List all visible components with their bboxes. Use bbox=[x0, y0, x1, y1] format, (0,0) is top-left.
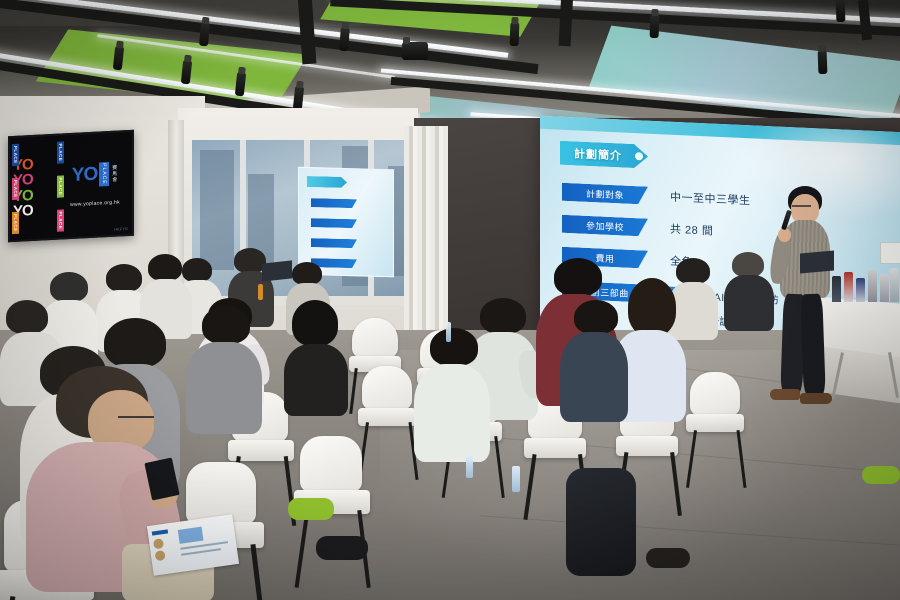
track-spotlight-icon bbox=[199, 22, 210, 47]
slide-row-label: 參加學校 bbox=[562, 215, 648, 237]
track-spotlight-icon bbox=[818, 50, 828, 74]
tv-place-label: PLACE bbox=[99, 162, 109, 186]
shoe bbox=[862, 466, 900, 484]
audience-member bbox=[282, 300, 350, 412]
audience-member bbox=[414, 328, 492, 460]
tv-strip-label: PLACE bbox=[57, 209, 64, 231]
slide-row: 計劃對象 中一至中三學生 bbox=[562, 183, 751, 210]
robot-model bbox=[890, 268, 899, 302]
bottle[interactable] bbox=[466, 454, 473, 478]
monitor-slide-bar bbox=[311, 198, 357, 208]
audience-member bbox=[724, 252, 776, 326]
robot-model bbox=[856, 278, 865, 302]
secondary-monitor bbox=[298, 167, 394, 278]
projector-icon bbox=[402, 42, 428, 60]
audience-member bbox=[560, 300, 630, 420]
shoe bbox=[288, 498, 334, 520]
tv-strip-label: PLACE bbox=[12, 178, 19, 200]
table-sign bbox=[880, 242, 900, 264]
shoe bbox=[646, 548, 690, 568]
bottle[interactable] bbox=[512, 466, 520, 492]
laptop[interactable] bbox=[262, 260, 292, 281]
robot-model bbox=[880, 274, 889, 302]
slide-row: 參加學校 共 28 間 bbox=[562, 215, 713, 240]
tv-strip-label: PLACE bbox=[12, 144, 19, 166]
presenter-shoe bbox=[800, 393, 832, 404]
slide-row-label: 計劃對象 bbox=[562, 183, 648, 205]
slide-title: 計劃簡介 bbox=[574, 145, 622, 163]
monitor-slide-title bbox=[307, 176, 347, 188]
presenter-leg bbox=[800, 294, 826, 397]
slide-title-dot-icon bbox=[635, 152, 643, 160]
slide-row-value: 共 28 間 bbox=[670, 221, 713, 239]
track-spotlight-icon bbox=[650, 14, 660, 38]
track-spotlight-icon bbox=[510, 22, 520, 46]
tv-strip-label: PLACE bbox=[57, 141, 64, 163]
wall-tv: YO YO YO YO PLACE PLACE PLACE PLACE PLAC… bbox=[8, 130, 134, 243]
tv-strip-label: PLACE bbox=[57, 175, 64, 197]
slide-row-value: 中一至中三學生 bbox=[670, 189, 751, 209]
laptop[interactable] bbox=[800, 251, 834, 274]
track-spotlight-icon bbox=[339, 27, 350, 52]
presenter-hand bbox=[778, 228, 791, 242]
shoe bbox=[316, 536, 368, 560]
backpack[interactable] bbox=[566, 468, 636, 576]
tv-strip-label: PLACE bbox=[12, 212, 19, 234]
robot-model bbox=[868, 270, 877, 302]
tv-corner-mark: HKFYG bbox=[114, 226, 128, 232]
presenter-shoe bbox=[770, 389, 800, 400]
bottle[interactable] bbox=[446, 322, 451, 342]
presenter-glasses-icon bbox=[792, 205, 811, 207]
tv-url: www.yoplace.org.hk bbox=[70, 199, 120, 208]
monitor-slide-bar bbox=[311, 218, 357, 228]
tv-chinese-label: 賽馬會 bbox=[111, 165, 118, 183]
foreground-glasses-icon bbox=[118, 416, 154, 418]
photo-scene: YO YO YO YO PLACE PLACE PLACE PLACE PLAC… bbox=[0, 0, 900, 600]
monitor-slide-bar bbox=[311, 238, 357, 248]
track-spotlight-icon bbox=[836, 0, 846, 22]
tv-brand-logo: YO bbox=[72, 164, 97, 187]
